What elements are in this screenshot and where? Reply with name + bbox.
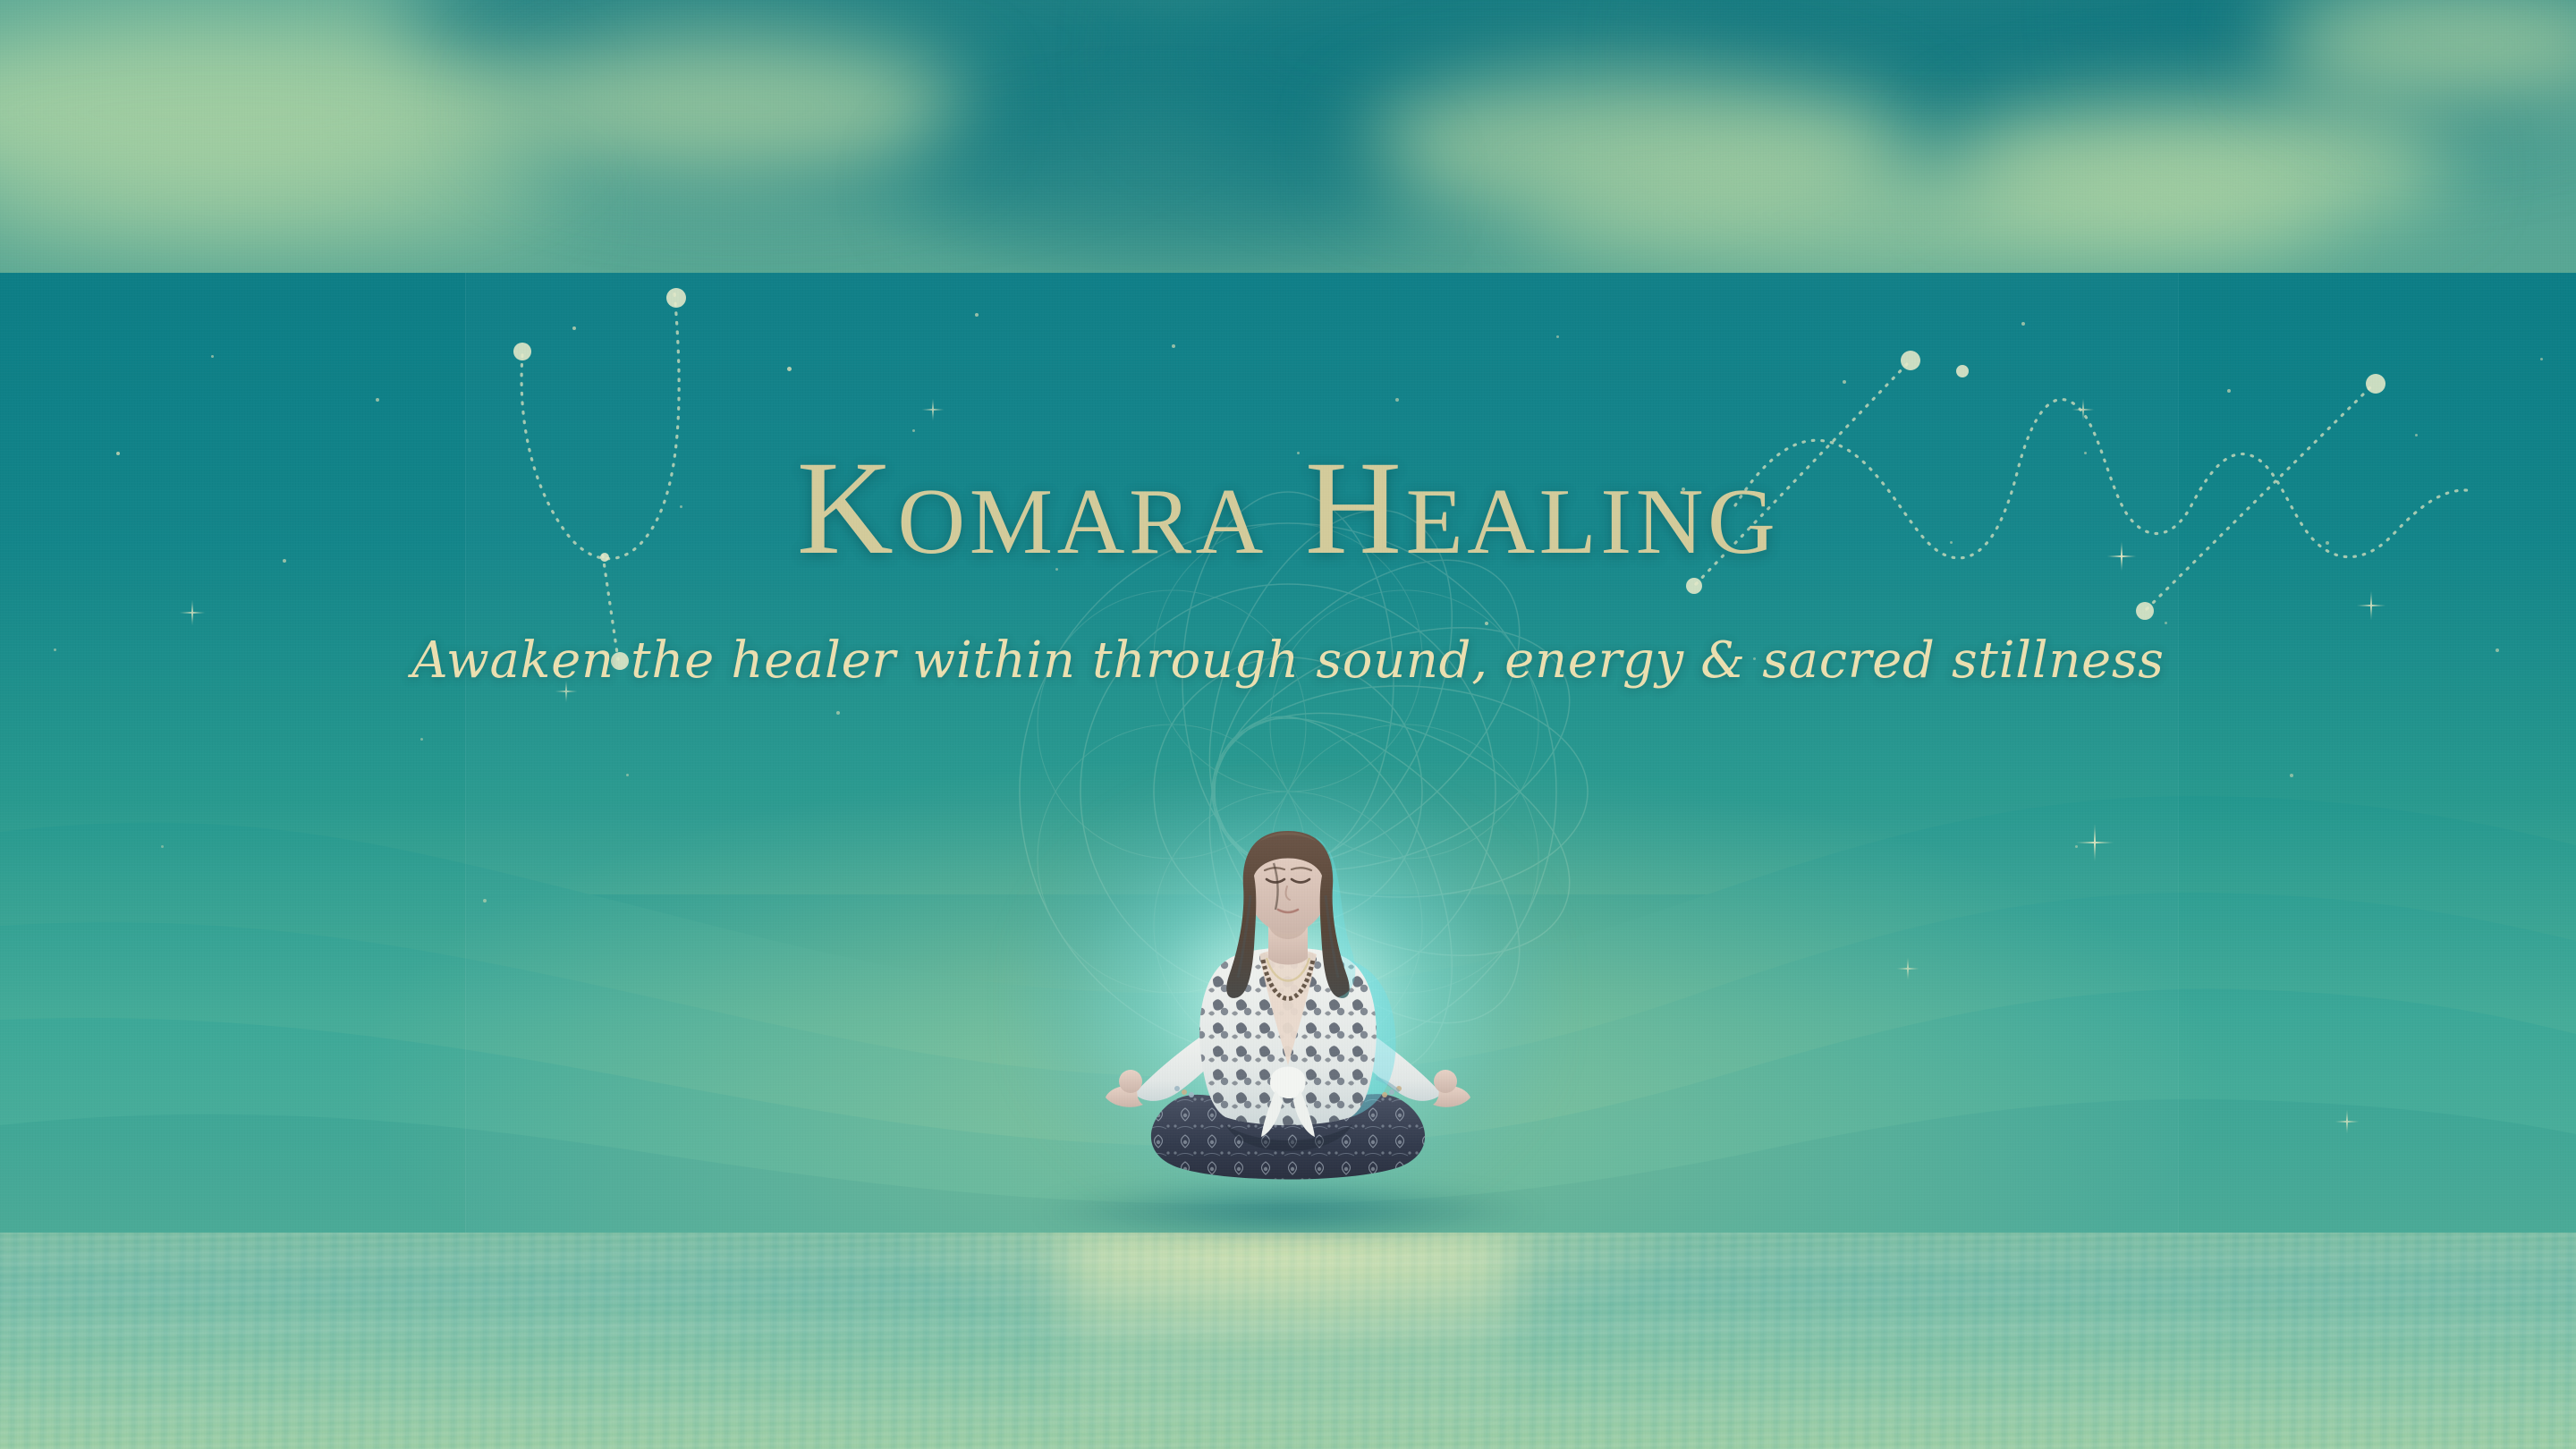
- sparkle-icon: [2356, 590, 2386, 621]
- water-sun-reflection: [1064, 1233, 1512, 1449]
- lake-water-surface: [0, 1233, 2576, 1449]
- panel-right-edge: [2178, 273, 2179, 1233]
- sparkle-icon: [179, 599, 206, 626]
- page-title: Komara Healing: [0, 441, 2576, 575]
- hero-banner: Komara Healing Awaken the healer within …: [0, 0, 2576, 1449]
- tagline: Awaken the healer within through sound, …: [0, 636, 2576, 686]
- meditating-woman-figure: [1091, 809, 1485, 1203]
- sparkle-icon: [2334, 1109, 2360, 1134]
- brand-tagline-block: Awaken the healer within through sound, …: [0, 636, 2576, 686]
- brand-title-block: Komara Healing: [0, 441, 2576, 575]
- panel-left-edge: [465, 273, 466, 1233]
